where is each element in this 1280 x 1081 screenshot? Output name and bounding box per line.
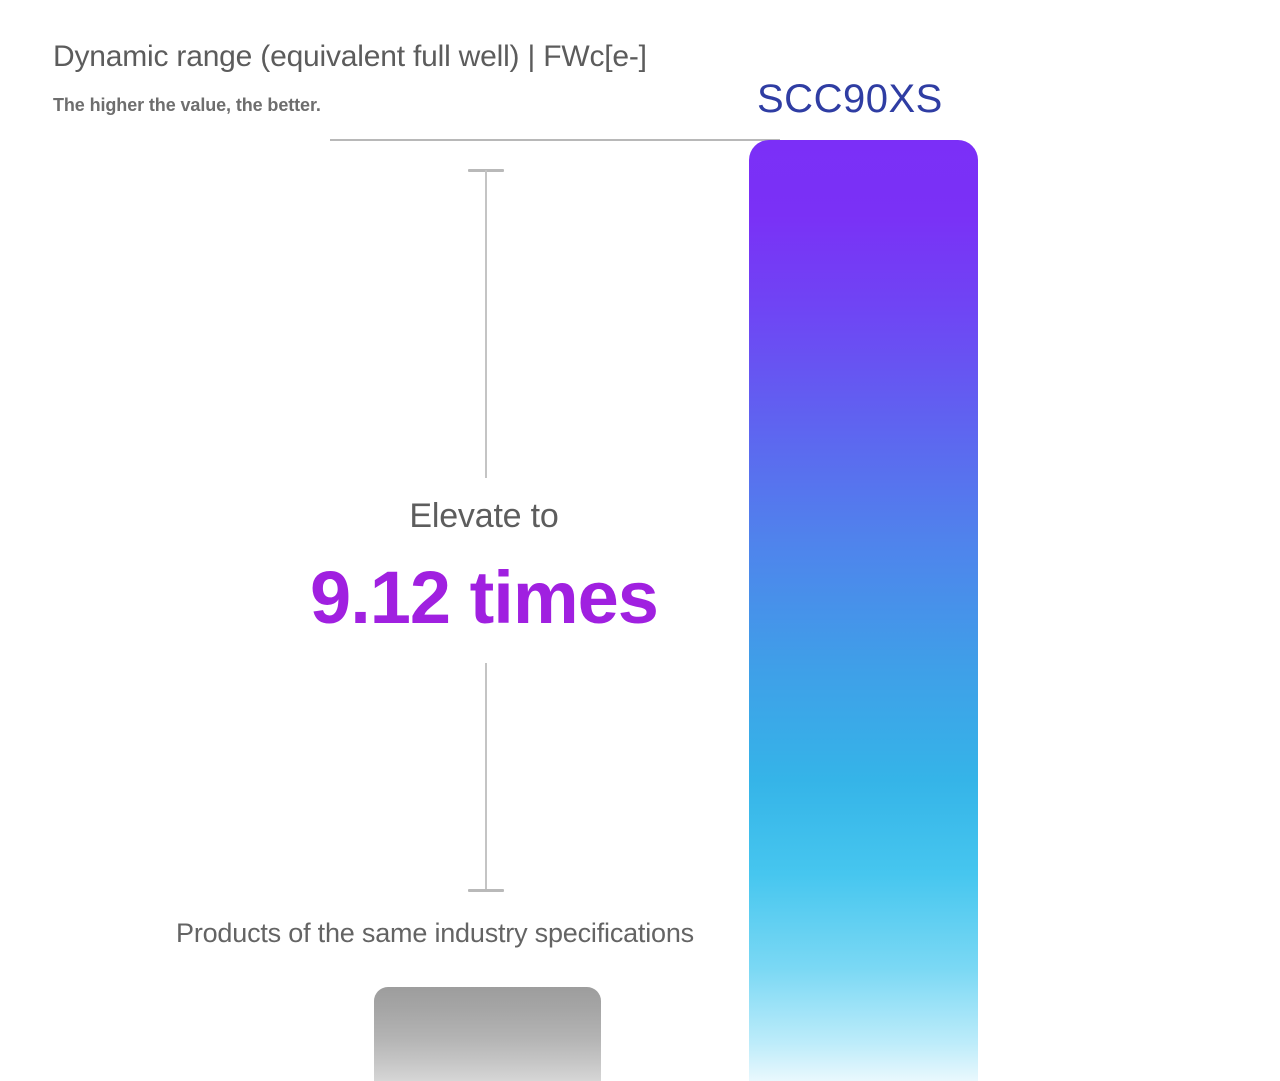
baseline-caption: Products of the same industry specificat… <box>0 914 870 952</box>
elevate-label: Elevate to <box>0 494 968 538</box>
chart-canvas: Dynamic range (equivalent full well) | F… <box>0 0 1280 1081</box>
multiplier-value: 9.12 times <box>0 552 968 644</box>
product-name-label: SCC90XS <box>757 76 943 122</box>
measure-line-lower <box>485 663 487 891</box>
measure-cap-bottom-icon <box>468 889 504 892</box>
page-title: Dynamic range (equivalent full well) | F… <box>53 38 647 76</box>
bar-industry-baseline <box>374 987 601 1081</box>
chart-subtitle: The higher the value, the better. <box>53 93 321 117</box>
top-reference-line <box>330 139 780 141</box>
measure-line-upper <box>485 170 487 478</box>
